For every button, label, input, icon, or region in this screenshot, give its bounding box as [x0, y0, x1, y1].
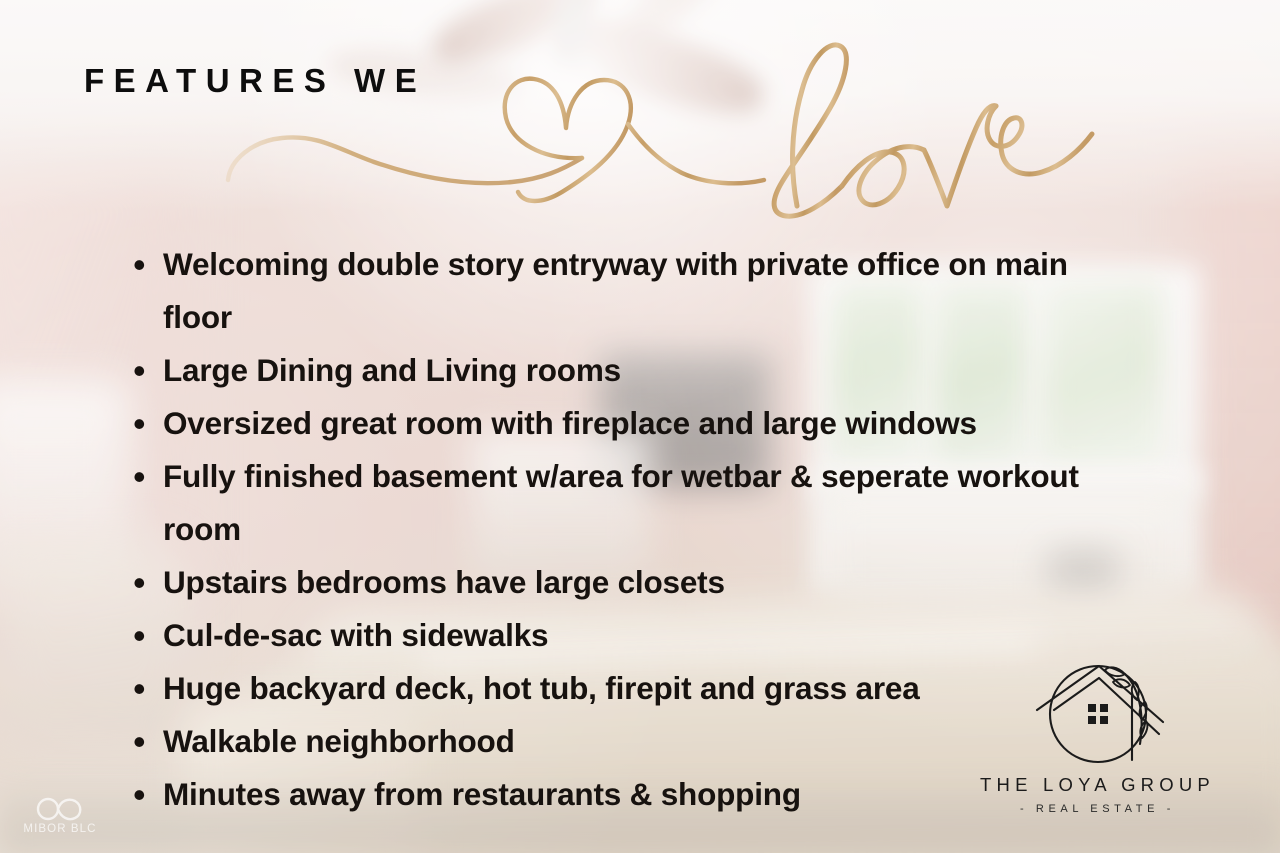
list-item: • Oversized great room with fireplace an… [133, 397, 1143, 450]
script-letter-l [774, 45, 846, 216]
bullet-icon: • [133, 609, 163, 662]
bullet-icon: • [133, 662, 163, 715]
script-letter-v [924, 106, 996, 206]
list-item: • Upstairs bedrooms have large closets [133, 556, 1143, 609]
list-item-label: Fully finished basement w/area for wetba… [163, 450, 1143, 556]
bullet-icon: • [133, 715, 163, 768]
background-right-wall [1180, 120, 1280, 660]
script-love-wordmark [190, 10, 980, 225]
brand-tagline: - REAL ESTATE - [975, 803, 1220, 815]
brand-name: THE LOYA GROUP [975, 774, 1220, 796]
mibor-blc-label: MIBOR BLC [14, 823, 106, 835]
background-left-object [0, 380, 130, 610]
list-item: • Fully finished basement w/area for wet… [133, 450, 1143, 556]
list-item-label: Welcoming double story entryway with pri… [163, 238, 1143, 344]
heart-tail [628, 124, 764, 183]
bullet-icon: • [133, 556, 163, 609]
list-item-label: Oversized great room with fireplace and … [163, 397, 1143, 450]
list-item: • Large Dining and Living rooms [133, 344, 1143, 397]
house-in-circle-with-branch-icon [1013, 648, 1183, 768]
list-item: • Welcoming double story entryway with p… [133, 238, 1143, 344]
listing-features-graphic: FEATURES WE [0, 0, 1280, 853]
mibor-blc-watermark: MIBOR BLC [14, 796, 106, 848]
bullet-icon: • [133, 238, 163, 291]
infinity-icon [31, 796, 89, 822]
bullet-icon: • [133, 768, 163, 821]
script-letter-o [842, 147, 924, 205]
brand-logo: THE LOYA GROUP - REAL ESTATE - [975, 648, 1220, 843]
bullet-icon: • [133, 450, 163, 503]
bullet-icon: • [133, 397, 163, 450]
bullet-icon: • [133, 344, 163, 397]
script-letter-e [987, 106, 1092, 174]
list-item-label: Upstairs bedrooms have large closets [163, 556, 1143, 609]
list-item-label: Large Dining and Living rooms [163, 344, 1143, 397]
